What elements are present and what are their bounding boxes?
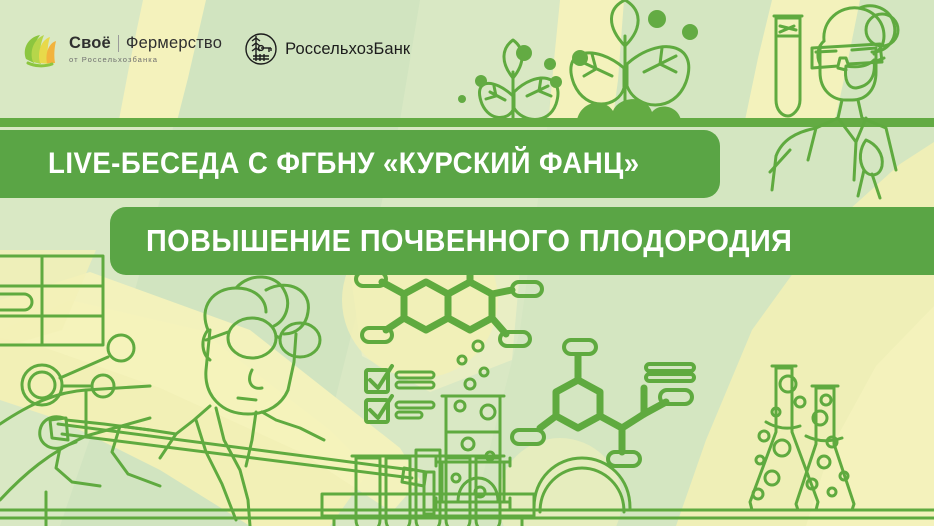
logo-bar: Своё Фермерство от Россельхозбанка [20,27,410,71]
svoe-fermerstvo-logo: Своё Фермерство от Россельхозбанка [20,29,222,69]
banner-topic: ПОВЫШЕНИЕ ПОЧВЕННОГО ПЛОДОРОДИЯ [110,207,934,275]
data-table-icon [0,256,103,345]
rshb-logo: РоссельхозБанк [244,32,410,66]
logo-divider [118,35,119,52]
test-tube-bubbles-icon [436,341,510,510]
rshb-wheat-emblem-icon [244,32,278,66]
table-surface-lines-icon [0,510,934,518]
banner-topic-text: ПОВЫШЕНИЕ ПОЧВЕННОГО ПЛОДОРОДИЯ [146,223,792,259]
banner-live-talk: LIVE-БЕСЕДА С ФГБНУ «КУРСКИЙ ФАНЦ» [0,130,720,198]
rshb-word: РоссельхозБанк [285,40,410,59]
banner-live-talk-text: LIVE-БЕСЕДА С ФГБНУ «КУРСКИЙ ФАНЦ» [48,147,640,181]
fermerstvo-word: Фермерство [126,35,222,52]
leaf-swirl-logo-icon [20,29,60,69]
slide-canvas: LIVE-БЕСЕДА С ФГБНУ «КУРСКИЙ ФАНЦ» ПОВЫШ… [0,0,934,526]
checklist-icon [366,366,434,422]
erlenmeyer-flasks-icon [750,366,854,510]
scientist-arm-left-icon [0,386,150,526]
svoe-subtitle: от Россельхозбанка [69,56,222,64]
svoe-word: Своё [69,35,111,52]
